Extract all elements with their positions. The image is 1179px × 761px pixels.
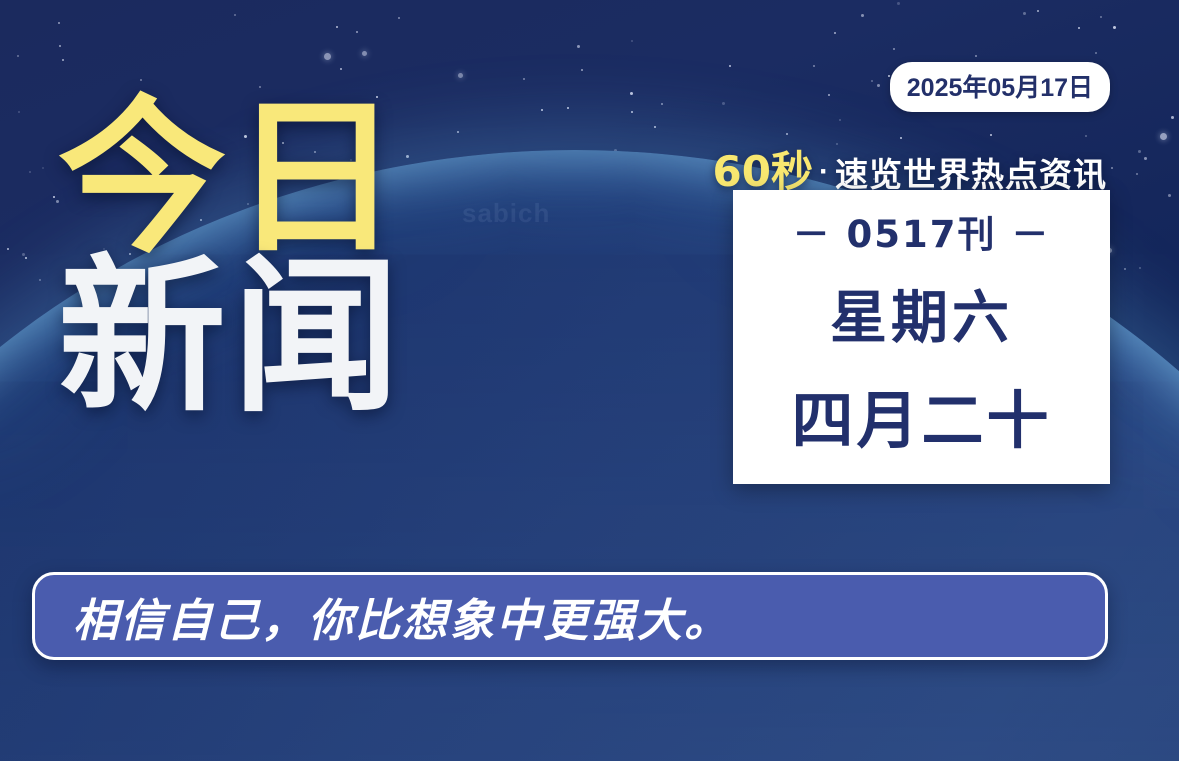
calendar-card: － 0517刊 － 星期六 四月二十 [733,190,1110,484]
title-line-today: 今日 [58,96,406,261]
title-line-news: 新闻 [58,255,406,420]
star-dot [58,22,60,24]
star-dot [1023,12,1026,15]
star-dot [1136,173,1138,175]
star-dot [42,167,44,169]
news-poster: sabich 今日 新闻 2025年05月17日 60秒·速览世界热点资讯 － … [0,0,1179,761]
star-dot [729,65,731,67]
star-dot [53,196,55,198]
quote-text: 相信自己，你比想象中更强大。 [73,584,731,649]
star-dot [1160,133,1167,140]
star-dot [39,279,41,281]
star-dot [336,26,338,28]
star-dot [630,92,633,95]
star-dot [1113,26,1116,29]
star-dot [356,31,358,33]
star-dot [29,171,31,173]
star-dot [1100,16,1102,18]
star-dot [1037,10,1039,12]
watermark-text: sabich [462,198,550,229]
star-dot [897,2,900,5]
star-dot [18,111,20,113]
star-dot [457,131,459,133]
star-dot [1168,194,1171,197]
star-dot [1085,135,1087,137]
star-dot [877,84,880,87]
tagline-subtitle: 速览世界热点资讯 [835,156,1107,193]
star-dot [893,48,895,50]
star-dot [324,53,331,60]
star-dot [631,40,633,42]
star-dot [990,134,992,136]
issue-number: － 0517刊 － [793,204,1051,258]
star-dot [975,55,977,57]
star-dot [577,45,580,48]
star-dot [834,32,836,34]
star-dot [362,51,367,56]
star-dot [523,78,525,80]
star-dot [25,257,27,259]
star-dot [7,248,9,250]
star-dot [839,119,841,121]
star-dot [22,253,25,256]
star-dot [17,55,19,57]
lunar-date-label: 四月二十 [791,370,1051,460]
star-dot [786,133,788,135]
star-dot [62,59,64,61]
weekday-label: 星期六 [830,272,1013,354]
star-dot [813,65,815,67]
star-dot [567,107,569,109]
page-title: 今日 新闻 [58,96,406,419]
star-dot [861,14,864,17]
star-dot [661,103,663,105]
star-dot [1171,116,1174,119]
star-dot [340,68,342,70]
star-dot [1139,267,1141,269]
tagline-separator: · [813,155,835,188]
star-dot [1144,157,1147,160]
star-dot [828,94,830,96]
date-badge: 2025年05月17日 [890,62,1110,112]
star-dot [722,102,725,105]
tagline-seconds: 60秒 [713,147,813,196]
star-dot [234,14,236,16]
star-dot [1124,268,1126,270]
star-dot [1095,52,1097,54]
star-dot [631,111,633,113]
star-dot [871,80,873,82]
star-dot [1111,167,1113,169]
star-dot [458,73,463,78]
star-dot [888,75,890,77]
star-dot [654,126,656,128]
star-dot [406,155,409,158]
star-dot [581,69,583,71]
star-dot [1078,27,1080,29]
quote-banner: 相信自己，你比想象中更强大。 [32,572,1108,660]
star-dot [1138,150,1141,153]
star-dot [398,17,400,19]
star-dot [59,45,61,47]
star-dot [541,109,543,111]
